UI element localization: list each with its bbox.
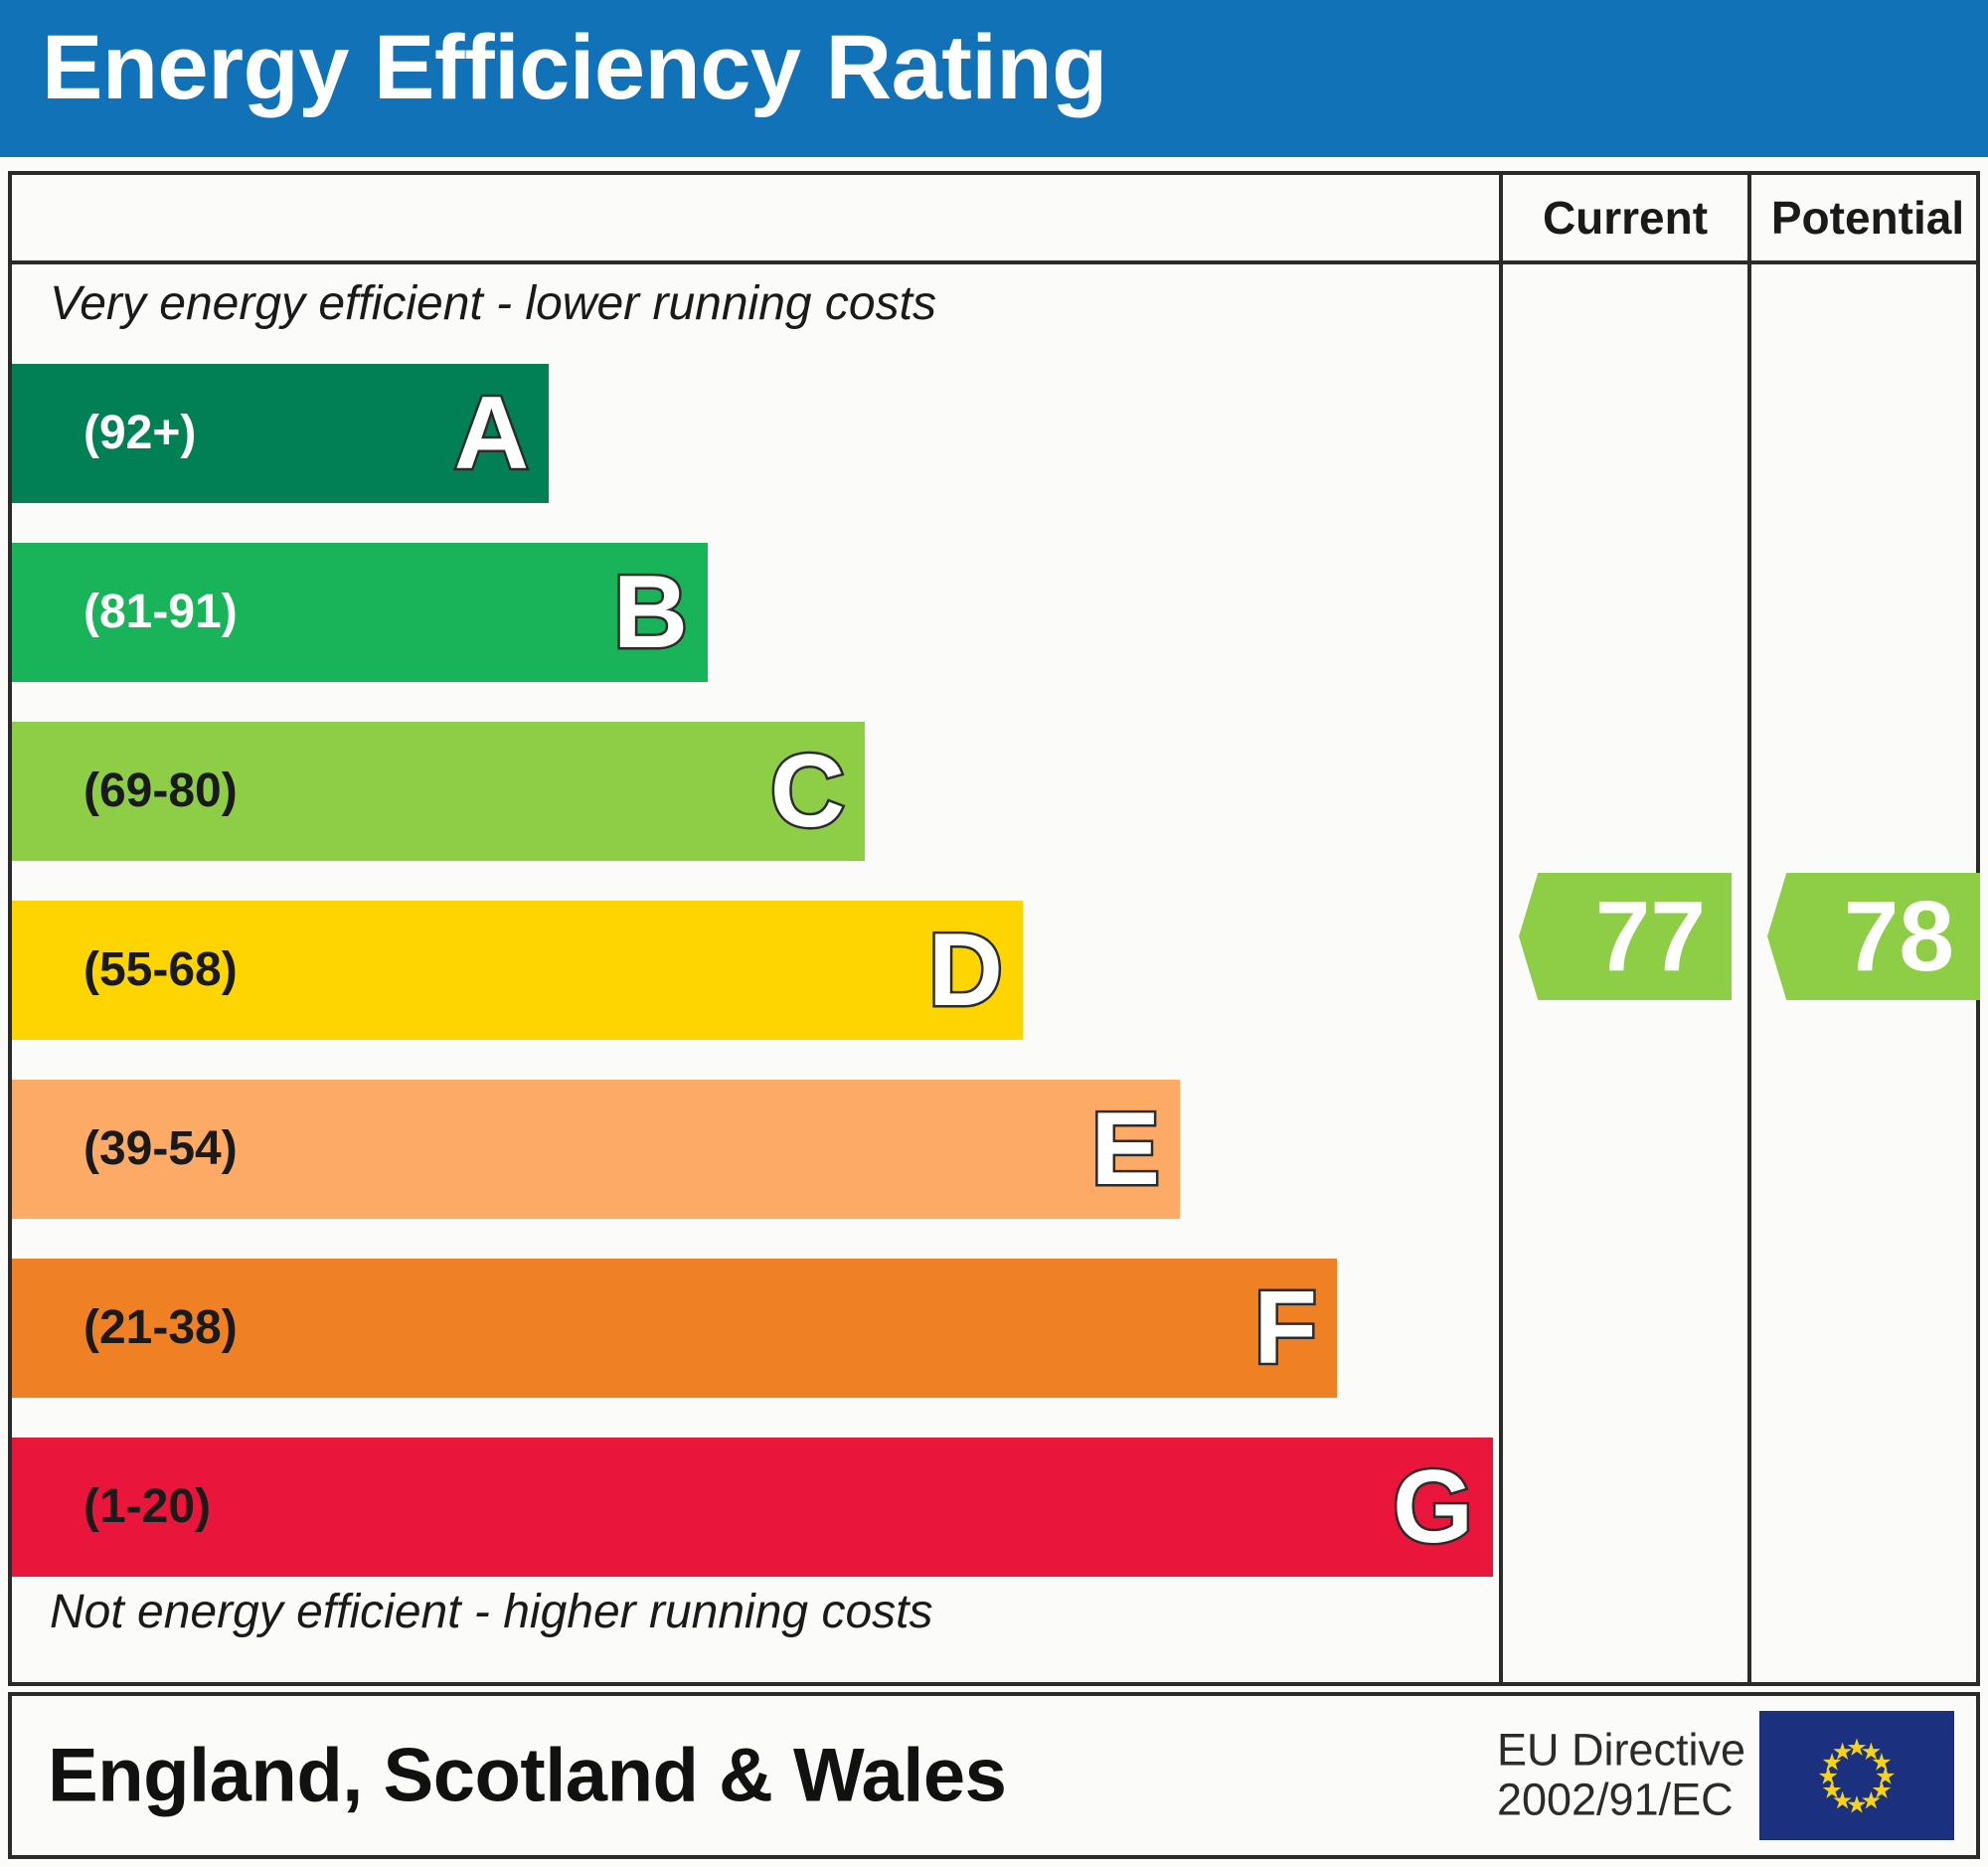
band-b: (81-91) B xyxy=(12,543,708,682)
eu-flag-icon xyxy=(1759,1711,1954,1840)
chart-footer: England, Scotland & Wales EU Directive 2… xyxy=(8,1692,1980,1859)
column-header-potential: Potential xyxy=(1751,175,1984,260)
rating-arrow-current: 77 xyxy=(1519,873,1732,1000)
band-c: (69-80) C xyxy=(12,722,865,861)
band-a: (92+) A xyxy=(12,364,549,503)
band-c-range: (69-80) xyxy=(83,767,238,815)
footer-directive-line2: 2002/91/EC xyxy=(1497,1776,1745,1825)
column-divider-1 xyxy=(1499,175,1503,1682)
rating-value-potential: 78 xyxy=(1844,887,1954,986)
band-e: (39-54) E xyxy=(12,1080,1180,1219)
caption-efficient: Very energy efficient - lower running co… xyxy=(50,276,936,331)
band-a-letter: A xyxy=(454,382,529,485)
column-header-row: Current Potential xyxy=(12,175,1976,264)
band-f: (21-38) F xyxy=(12,1259,1337,1398)
band-f-range: (21-38) xyxy=(83,1304,238,1352)
band-a-range: (92+) xyxy=(83,410,196,457)
band-g-letter: G xyxy=(1393,1455,1473,1559)
rating-value-current: 77 xyxy=(1595,887,1706,986)
band-e-range: (39-54) xyxy=(83,1125,238,1173)
band-g: (1-20) G xyxy=(12,1438,1493,1577)
band-b-range: (81-91) xyxy=(83,589,238,636)
band-d-range: (55-68) xyxy=(83,946,238,994)
chart-frame: Current Potential Very energy efficient … xyxy=(8,171,1980,1686)
column-divider-2 xyxy=(1747,175,1751,1682)
caption-not-efficient: Not energy efficient - higher running co… xyxy=(50,1585,932,1639)
band-e-letter: E xyxy=(1091,1098,1160,1201)
band-d-letter: D xyxy=(928,919,1003,1022)
band-d: (55-68) D xyxy=(12,901,1023,1040)
rating-arrow-potential: 78 xyxy=(1767,873,1980,1000)
band-g-range: (1-20) xyxy=(83,1483,211,1531)
chart-title-bar: Energy Efficiency Rating xyxy=(0,0,1988,157)
column-header-current: Current xyxy=(1503,175,1747,260)
footer-directive-line1: EU Directive xyxy=(1497,1726,1745,1776)
page-title: Energy Efficiency Rating xyxy=(42,22,1107,113)
band-c-letter: C xyxy=(770,740,845,843)
energy-efficiency-rating-chart: Energy Efficiency Rating Current Potenti… xyxy=(0,0,1988,1867)
band-list: (92+) A (81-91) B (69-80) C (55-68) D (3… xyxy=(12,364,1495,1557)
band-b-letter: B xyxy=(613,561,688,664)
band-f-letter: F xyxy=(1253,1276,1317,1380)
footer-directive: EU Directive 2002/91/EC xyxy=(1497,1726,1745,1826)
footer-region-label: England, Scotland & Wales xyxy=(48,1733,1006,1819)
